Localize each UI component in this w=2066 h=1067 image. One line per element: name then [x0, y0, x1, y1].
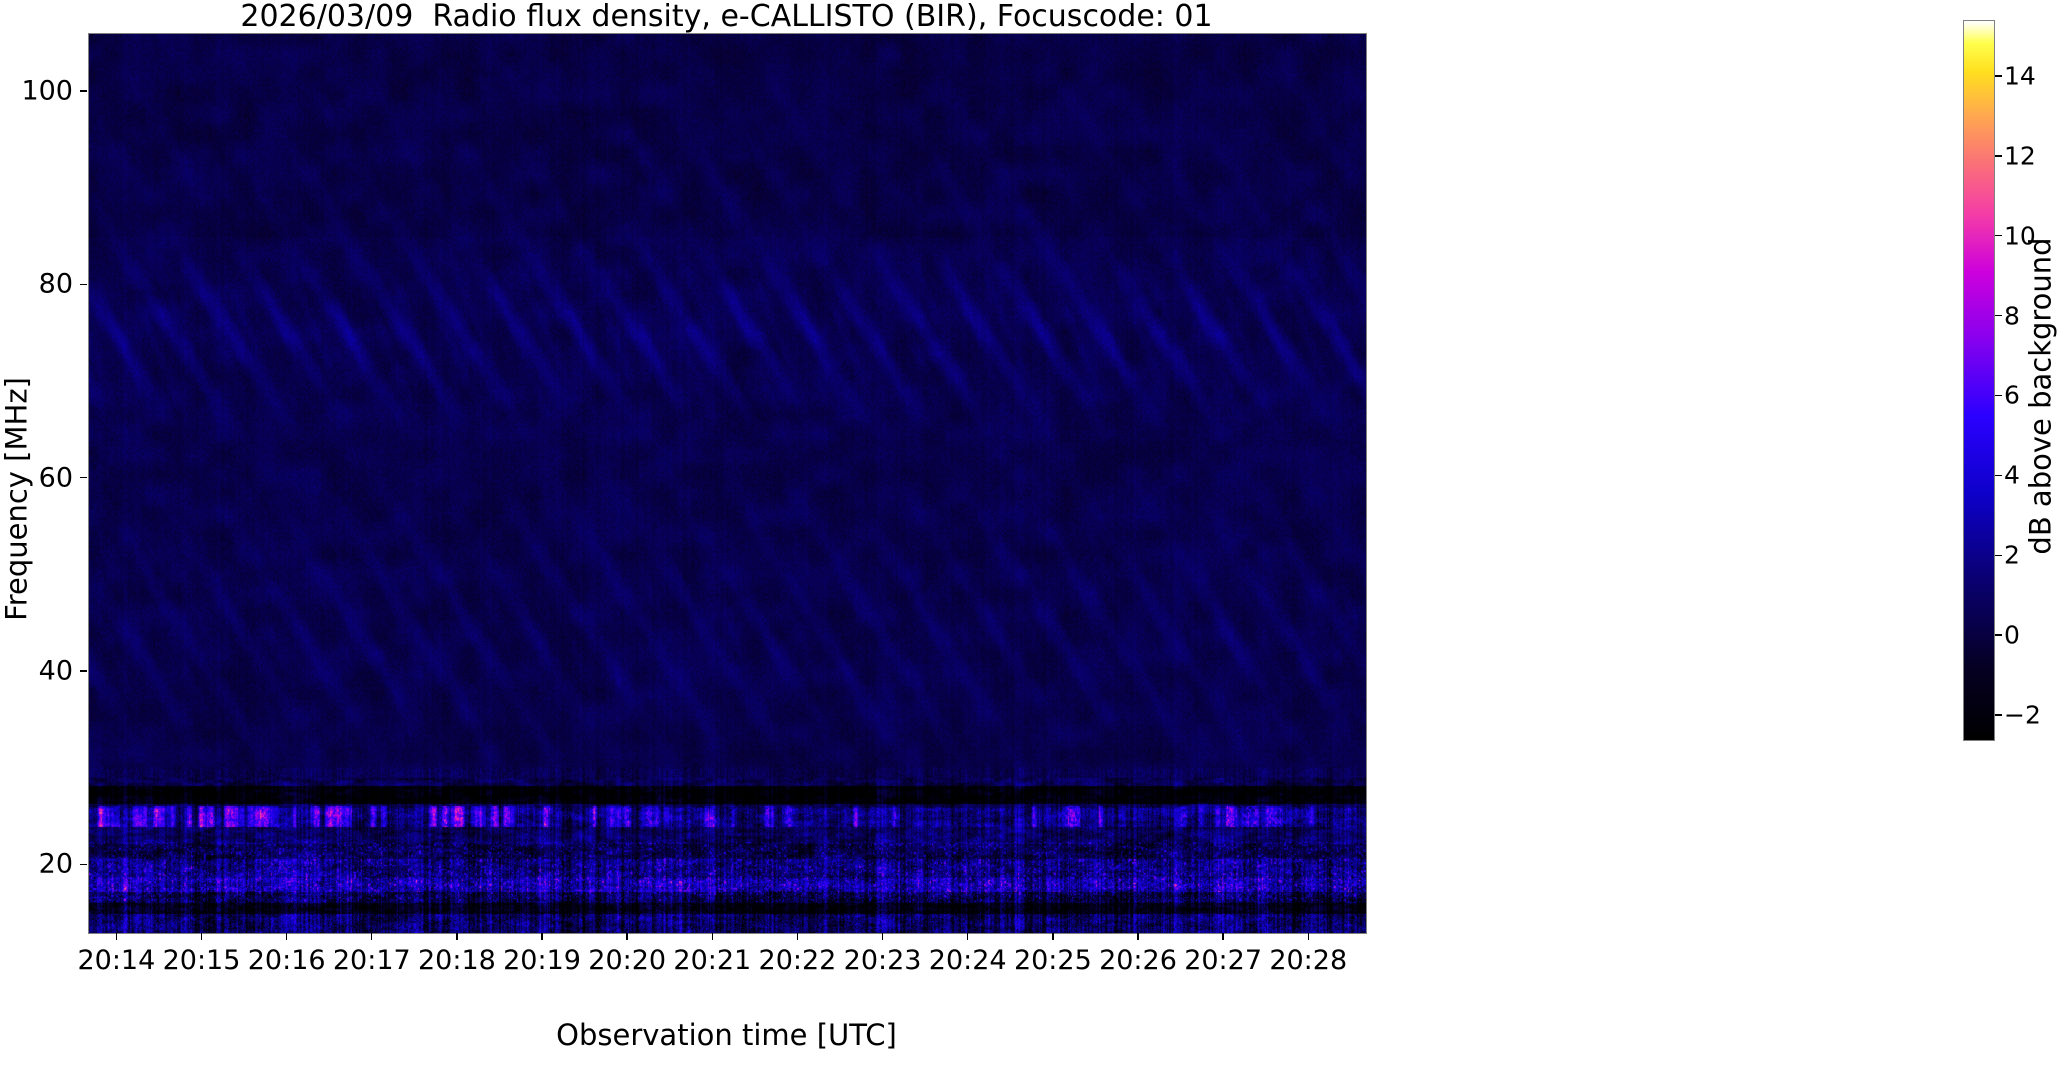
x-tick-mark — [797, 933, 798, 940]
x-axis-label: Observation time [UTC] — [88, 1018, 1365, 1052]
x-tick-label: 20:26 — [1099, 945, 1177, 976]
x-tick-label: 20:28 — [1269, 945, 1347, 976]
x-tick-mark — [541, 933, 542, 940]
colorbar-tick-mark — [1995, 75, 2002, 76]
colorbar-tick-mark — [1995, 155, 2002, 156]
x-tick-label: 20:22 — [759, 945, 837, 976]
x-tick-label: 20:24 — [929, 945, 1007, 976]
x-tick-mark — [967, 933, 968, 940]
colorbar[interactable] — [1963, 20, 1995, 741]
x-tick-label: 20:17 — [333, 945, 411, 976]
spectrogram-image[interactable] — [89, 34, 1366, 933]
page-title: 2026/03/09 Radio flux density, e-CALLIST… — [88, 0, 1365, 33]
x-tick-label: 20:20 — [588, 945, 666, 976]
x-tick-mark — [286, 933, 287, 940]
colorbar-tick-mark — [1995, 315, 2002, 316]
colorbar-tick-mark — [1995, 634, 2002, 635]
x-tick-mark — [882, 933, 883, 940]
spectrogram-figure: 2026/03/09 Radio flux density, e-CALLIST… — [0, 0, 2066, 1067]
colorbar-tick-label: 8 — [2004, 301, 2020, 330]
x-tick-label: 20:23 — [844, 945, 922, 976]
x-tick-label: 20:16 — [248, 945, 326, 976]
colorbar-tick-mark — [1995, 395, 2002, 396]
colorbar-gradient — [1964, 21, 1994, 740]
x-tick-mark — [116, 933, 117, 940]
x-tick-label: 20:21 — [673, 945, 751, 976]
colorbar-tick-mark — [1995, 555, 2002, 556]
y-tick-mark — [80, 90, 87, 91]
colorbar-tick-mark — [1995, 475, 2002, 476]
y-tick-mark — [80, 284, 87, 285]
x-tick-mark — [456, 933, 457, 940]
x-tick-mark — [1308, 933, 1309, 940]
x-tick-mark — [1222, 933, 1223, 940]
y-tick-mark — [80, 477, 87, 478]
x-tick-label: 20:18 — [418, 945, 496, 976]
colorbar-tick-label: 6 — [2004, 381, 2020, 410]
colorbar-tick-label: 0 — [2004, 621, 2020, 650]
x-tick-label: 20:14 — [77, 945, 155, 976]
main-axes[interactable] — [88, 33, 1367, 934]
x-tick-label: 20:27 — [1184, 945, 1262, 976]
x-tick-mark — [626, 933, 627, 940]
x-tick-label: 20:15 — [163, 945, 241, 976]
colorbar-tick-mark — [1995, 714, 2002, 715]
x-tick-mark — [712, 933, 713, 940]
x-tick-mark — [201, 933, 202, 940]
y-axis-label: Frequency [MHz] — [0, 50, 34, 949]
y-tick-mark — [80, 670, 87, 671]
colorbar-tick-label: 2 — [2004, 541, 2020, 570]
x-tick-mark — [1137, 933, 1138, 940]
colorbar-label: dB above background — [2024, 37, 2058, 756]
x-tick-mark — [371, 933, 372, 940]
x-tick-mark — [1052, 933, 1053, 940]
x-tick-label: 20:19 — [503, 945, 581, 976]
y-tick-mark — [80, 864, 87, 865]
colorbar-tick-mark — [1995, 235, 2002, 236]
colorbar-tick-label: 4 — [2004, 461, 2020, 490]
x-tick-label: 20:25 — [1014, 945, 1092, 976]
